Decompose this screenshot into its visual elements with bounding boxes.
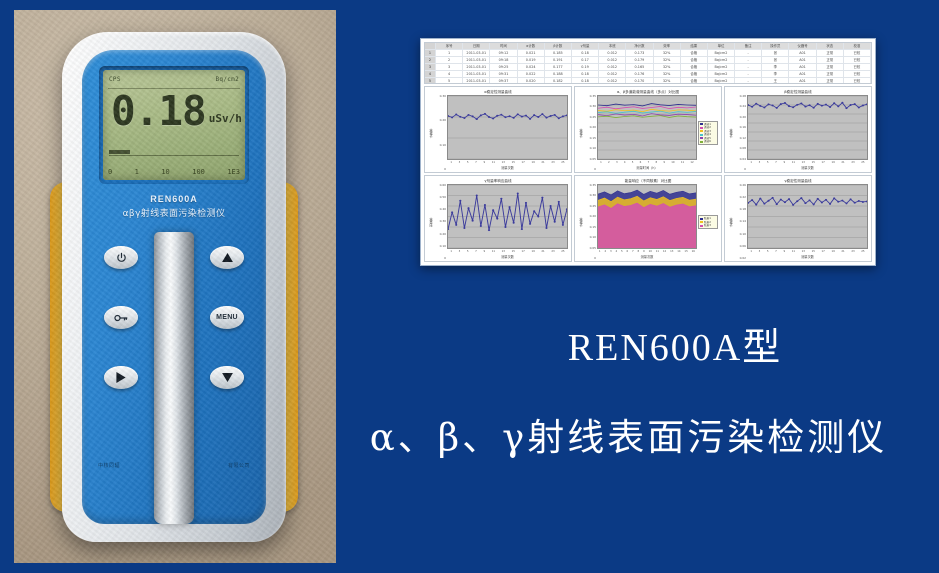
chart-legend-swatch — [700, 218, 703, 220]
chart-y-tick: 0.30 — [440, 220, 446, 223]
spreadsheet-cell[interactable]: 09:12 — [490, 50, 517, 56]
spreadsheet-column-header[interactable]: 单位 — [708, 43, 735, 49]
spreadsheet-cell[interactable]: 0.012 — [599, 78, 626, 84]
chart-y-axis-label: 计数率 — [578, 184, 584, 260]
spreadsheet-cell[interactable]: 2011-03-01 — [463, 50, 490, 56]
spreadsheet-cell[interactable]: 正常 — [817, 57, 844, 63]
spreadsheet-row-header[interactable]: 1 — [425, 50, 436, 56]
chart-y-tick: 0.12 — [740, 137, 746, 140]
chart-body: 计数率0.300.200.100135791113151719212325测量次… — [428, 95, 568, 171]
chart-y-tick: 0.20 — [440, 119, 446, 122]
down-button[interactable] — [210, 366, 244, 389]
spreadsheet-column-header[interactable]: 状态 — [817, 43, 844, 49]
maker-text-row: 中核同辐 有限公司 — [82, 462, 266, 469]
chart-y-axis-label: 计数率 — [728, 95, 734, 171]
device-shell: CPS Bq/cm2 0.18 uSv/h — [62, 32, 286, 542]
chart-y-axis-label: 计数率 — [428, 95, 434, 171]
maker-text-left: 中核同辐 — [98, 462, 120, 469]
spreadsheet-cell[interactable]: 0.179 — [626, 57, 653, 63]
lcd-value: 0.18 — [111, 92, 206, 131]
lcd-scale-tick: 10 — [161, 168, 169, 176]
up-button[interactable] — [210, 246, 244, 269]
spreadsheet-cell[interactable]: - — [735, 57, 762, 63]
spreadsheet-cell[interactable]: 已校 — [844, 50, 871, 56]
spreadsheet-cell[interactable]: 0.18 — [572, 78, 599, 84]
spreadsheet-cell[interactable]: 32% — [654, 64, 681, 70]
spreadsheet-column-header[interactable]: 本底 — [599, 43, 626, 49]
chart-plot-area — [447, 95, 568, 160]
chart-body: 计数率0.260.220.180.140.100.060.02135791113… — [728, 184, 868, 260]
spreadsheet-corner-cell — [425, 43, 436, 49]
spreadsheet-row-header[interactable]: 4 — [425, 71, 436, 77]
device-model-label: REN600A — [82, 194, 266, 204]
spreadsheet-cell[interactable]: 0.19 — [572, 64, 599, 70]
chart-x-axis-label: 测量时间（h） — [597, 166, 697, 171]
spreadsheet-cell[interactable]: 2011-03-01 — [463, 78, 490, 84]
chart-y-tick: 0.15 — [590, 137, 596, 140]
chart-y-tick: 0.20 — [590, 126, 596, 129]
spreadsheet-cell[interactable]: 0.185 — [545, 50, 572, 56]
chart-y-tick: 0.10 — [440, 245, 446, 248]
lcd-bezel: CPS Bq/cm2 0.18 uSv/h — [99, 66, 249, 184]
chart-x-axis-label: 测量次数 — [447, 255, 568, 260]
lock-button[interactable] — [104, 306, 138, 329]
chart-legend: 通道1通道2通道3通道4通道5通道6 — [698, 121, 718, 146]
spreadsheet-cell[interactable]: 已校 — [844, 78, 871, 84]
spreadsheet-cell[interactable]: 合格 — [681, 71, 708, 77]
lcd-reading: 0.18 uSv/h — [111, 92, 242, 131]
spreadsheet-cell[interactable]: 0.012 — [599, 50, 626, 56]
triangle-down-icon — [222, 373, 233, 382]
spreadsheet-cell[interactable]: Bq/cm2 — [708, 71, 735, 77]
chart-gamma-stability: γ稳定性测量曲线计数率0.260.220.180.140.100.060.021… — [724, 175, 872, 262]
spreadsheet-cell[interactable]: A01 — [789, 64, 816, 70]
chart-plot-wrap: 135791113151719212325测量次数 — [447, 184, 568, 260]
chart-y-tick: 0 — [444, 257, 446, 260]
software-screenshot: 序号日期时间α计数β计数γ剂量本底净计数效率结果单位备注操作员仪器号状态校准11… — [420, 38, 876, 266]
chart-y-tick: 0.15 — [590, 226, 596, 229]
triangle-right-icon — [116, 372, 126, 383]
spreadsheet-cell[interactable]: 0.020 — [518, 78, 545, 84]
chart-legend-swatch — [700, 123, 703, 125]
spreadsheet-cell[interactable]: 0.012 — [599, 71, 626, 77]
chart-y-tick: 0.16 — [740, 126, 746, 129]
spreadsheet-cell[interactable]: 0.012 — [599, 64, 626, 70]
spreadsheet-cell[interactable]: 4 — [436, 71, 463, 77]
spreadsheet-cell[interactable]: 李 — [762, 71, 789, 77]
spreadsheet-cell[interactable]: A01 — [789, 78, 816, 84]
device-printed-label: REN600A αβγ射线表面污染检测仪 — [82, 194, 266, 219]
lcd-scale-tick: 1 — [135, 168, 139, 176]
spreadsheet-row[interactable]: 442011-03-0109:310.0220.1880.180.0120.17… — [425, 71, 871, 78]
spreadsheet-cell[interactable]: 0.021 — [518, 50, 545, 56]
menu-button[interactable]: MENU — [210, 306, 244, 329]
chart-x-axis-label: 测量次数 — [747, 166, 868, 171]
chart-plot-area — [747, 95, 868, 160]
spreadsheet-cell[interactable]: 已校 — [844, 57, 871, 63]
spreadsheet-cell[interactable]: 0.012 — [599, 57, 626, 63]
spreadsheet-cell[interactable]: 09:25 — [490, 64, 517, 70]
chart-legend-swatch — [700, 137, 703, 139]
chart-plot-wrap: 135791113151719212325测量次数 — [747, 95, 868, 171]
chart-y-tick: 0.08 — [740, 147, 746, 150]
spreadsheet-cell[interactable]: 1 — [436, 50, 463, 56]
spreadsheet-cell[interactable]: Bq/cm2 — [708, 78, 735, 84]
chart-y-tick: 0 — [594, 257, 596, 260]
spreadsheet-cell[interactable]: 3 — [436, 64, 463, 70]
spreadsheet-cell[interactable]: 张 — [762, 57, 789, 63]
chart-body: 剂量率0.600.500.400.300.200.100135791113151… — [428, 184, 568, 260]
chart-gamma-response: γ剂量率响应曲线剂量率0.600.500.400.300.200.1001357… — [424, 175, 572, 262]
spreadsheet-cell[interactable]: 李 — [762, 64, 789, 70]
spreadsheet-cell[interactable]: - — [735, 50, 762, 56]
chart-y-tick: 0.05 — [590, 158, 596, 161]
spreadsheet-cell[interactable]: 2 — [436, 57, 463, 63]
spreadsheet-cell[interactable]: 0.022 — [518, 71, 545, 77]
product-poster: CPS Bq/cm2 0.18 uSv/h — [0, 0, 939, 573]
lcd-bargraph — [109, 151, 239, 156]
chart-y-tick: 0.10 — [590, 147, 596, 150]
lcd-status-left: CPS — [109, 76, 121, 83]
chart-y-tick: 0.05 — [590, 247, 596, 250]
lcd-scale-tick: 0 — [108, 168, 112, 176]
spreadsheet-cell[interactable]: 32% — [654, 78, 681, 84]
chart-y-axis-label: 计数率 — [578, 95, 584, 171]
chart-y-tick: 0.02 — [740, 257, 746, 260]
chart-y-tick: 0.10 — [590, 236, 596, 239]
chart-y-tick: 0.35 — [590, 184, 596, 187]
spreadsheet-cell[interactable]: 0.188 — [545, 71, 572, 77]
chart-x-axis-label: 测量次数 — [747, 255, 868, 260]
spreadsheet-cell[interactable]: 09:37 — [490, 78, 517, 84]
device-photo: CPS Bq/cm2 0.18 uSv/h — [14, 10, 336, 563]
spreadsheet-cell[interactable]: 0.176 — [626, 71, 653, 77]
spreadsheet-row-header[interactable]: 2 — [425, 57, 436, 63]
chart-grid: α稳定性测量曲线计数率0.300.200.1001357911131517192… — [424, 86, 872, 262]
spreadsheet-column-header[interactable]: 效率 — [654, 43, 681, 49]
chart-y-tick: 0 — [594, 168, 596, 171]
spreadsheet-cell[interactable]: 32% — [654, 50, 681, 56]
chart-y-ticks: 0.600.500.400.300.200.100 — [434, 184, 447, 260]
chart-plot-area — [447, 184, 568, 249]
chart-y-tick: 0.10 — [740, 233, 746, 236]
chart-y-tick: 0.10 — [440, 144, 446, 147]
handheld-meter: CPS Bq/cm2 0.18 uSv/h — [54, 32, 294, 542]
spreadsheet-column-header[interactable]: γ剂量 — [572, 43, 599, 49]
chart-y-tick: 0.30 — [440, 95, 446, 98]
chart-body: 计数率0.280.240.200.160.120.080.04013579111… — [728, 95, 868, 171]
spreadsheet-cell[interactable]: 合格 — [681, 50, 708, 56]
chart-y-tick: 0 — [444, 168, 446, 171]
chart-y-tick: 0.25 — [590, 116, 596, 119]
chart-legend-label: 通道6 — [704, 140, 711, 143]
lcd-status-right: Bq/cm2 — [216, 76, 239, 83]
chart-y-tick: 0.40 — [440, 208, 446, 211]
poster-description-title: α、β、γ射线表面污染检测仪 — [318, 412, 939, 464]
spreadsheet-cell[interactable]: 正常 — [817, 64, 844, 70]
spreadsheet-cell[interactable]: A01 — [789, 50, 816, 56]
chart-y-tick: 0.04 — [740, 158, 746, 161]
spreadsheet-cell[interactable]: 0.17 — [572, 57, 599, 63]
lcd-bargraph-fill — [109, 150, 130, 154]
spreadsheet-cell[interactable]: 32% — [654, 57, 681, 63]
chart-plot-wrap: 123456789101112测量时间（h） — [597, 95, 697, 171]
chart-y-ticks: 0.300.200.100 — [434, 95, 447, 171]
chart-y-ticks: 0.280.240.200.160.120.080.040 — [734, 95, 747, 171]
chart-y-tick: 0.50 — [440, 196, 446, 199]
spreadsheet-cell[interactable]: 0.18 — [572, 71, 599, 77]
device-faceplate: CPS Bq/cm2 0.18 uSv/h — [82, 50, 266, 524]
spreadsheet-cell[interactable]: 0.177 — [545, 64, 572, 70]
spreadsheet-cell[interactable]: A01 — [789, 57, 816, 63]
chart-plot-wrap: 135791113151719212325测量次数 — [447, 95, 568, 171]
spreadsheet-cell[interactable]: 0.191 — [545, 57, 572, 63]
chart-y-tick: 0.26 — [740, 184, 746, 187]
chart-legend-swatch — [700, 225, 703, 227]
chart-y-tick: 0.24 — [740, 105, 746, 108]
chart-legend-swatch — [700, 134, 703, 136]
chart-legend-swatch — [700, 141, 703, 143]
spreadsheet-cell[interactable]: 32% — [654, 71, 681, 77]
spreadsheet-cell[interactable]: 合格 — [681, 64, 708, 70]
spreadsheet-row[interactable]: 112011-03-0109:120.0210.1850.180.0120.17… — [425, 50, 871, 57]
chart-legend-label: 核素3 — [704, 224, 711, 227]
spreadsheet-cell[interactable]: 正常 — [817, 71, 844, 77]
spreadsheet-row-header[interactable]: 3 — [425, 64, 436, 70]
spreadsheet-cell[interactable]: 正常 — [817, 78, 844, 84]
spreadsheet-column-header[interactable]: 时间 — [490, 43, 517, 49]
chart-y-tick: 0.30 — [590, 194, 596, 197]
lcd-screen: CPS Bq/cm2 0.18 uSv/h — [103, 70, 245, 180]
spreadsheet-cell[interactable]: 2011-03-01 — [463, 64, 490, 70]
chart-plot-wrap: 135791113151719212325测量次数 — [747, 184, 868, 260]
chart-y-ticks: 0.260.220.180.140.100.060.02 — [734, 184, 747, 260]
spreadsheet-column-header[interactable]: 备注 — [735, 43, 762, 49]
keypad: MENU — [82, 246, 266, 436]
play-button[interactable] — [104, 366, 138, 389]
lcd-unit: uSv/h — [209, 112, 242, 131]
chart-legend-item[interactable]: 通道6 — [700, 140, 716, 143]
spreadsheet-row[interactable]: 332011-03-0109:250.0240.1770.190.0120.16… — [425, 64, 871, 71]
chart-y-tick: 0.06 — [740, 245, 746, 248]
power-button[interactable] — [104, 246, 138, 269]
spreadsheet-column-header[interactable]: β计数 — [545, 43, 572, 49]
chart-y-tick: 0.25 — [590, 205, 596, 208]
lcd-status-bar: CPS Bq/cm2 — [109, 73, 239, 86]
chart-plot-area — [747, 184, 868, 249]
spreadsheet-row[interactable]: 222011-03-0109:180.0190.1910.170.0120.17… — [425, 57, 871, 64]
chart-y-tick: 0.60 — [440, 184, 446, 187]
spreadsheet-cell[interactable]: 0.019 — [518, 57, 545, 63]
lcd-scale: 0 1 10 100 1E3 — [108, 168, 240, 176]
chart-legend-item[interactable]: 核素3 — [700, 224, 716, 227]
spreadsheet-cell[interactable]: 2011-03-01 — [463, 71, 490, 77]
spreadsheet-cell[interactable]: 0.173 — [626, 50, 653, 56]
spreadsheet-cell[interactable]: Bq/cm2 — [708, 57, 735, 63]
spreadsheet-cell[interactable]: 09:18 — [490, 57, 517, 63]
chart-legend-swatch — [700, 221, 703, 223]
spreadsheet-cell[interactable]: 王 — [762, 78, 789, 84]
spreadsheet-row[interactable]: 552011-03-0109:370.0200.1820.180.0120.17… — [425, 78, 871, 84]
chart-y-tick: 0.35 — [590, 95, 596, 98]
chart-beta-stability: β稳定性测量曲线计数率0.280.240.200.160.120.080.040… — [724, 86, 872, 173]
spreadsheet-column-header[interactable]: 净计数 — [626, 43, 653, 49]
lcd-scale-tick: 1E3 — [227, 168, 240, 176]
device-description-label: αβγ射线表面污染检测仪 — [82, 206, 266, 219]
chart-y-ticks: 0.350.300.250.200.150.100.050 — [584, 95, 597, 171]
chart-plot-wrap: 12345678910111213141516测量次数 — [597, 184, 697, 260]
chart-y-axis-label: 计数率 — [728, 184, 734, 260]
spreadsheet-cell[interactable]: 5 — [436, 78, 463, 84]
spreadsheet-column-header[interactable]: 操作员 — [762, 43, 789, 49]
spreadsheet-cell[interactable]: 已校 — [844, 71, 871, 77]
chart-alpha-stability: α稳定性测量曲线计数率0.300.200.1001357911131517192… — [424, 86, 572, 173]
triangle-up-icon — [222, 253, 233, 262]
chart-multichannel-energy: α、β多道能谱测量曲线（多点）对比图计数率0.350.300.250.200.1… — [574, 86, 722, 173]
spreadsheet-row-header[interactable]: 5 — [425, 78, 436, 84]
spreadsheet-cell[interactable]: 正常 — [817, 50, 844, 56]
spreadsheet-cell[interactable]: 0.165 — [626, 64, 653, 70]
spreadsheet-column-header[interactable]: 序号 — [436, 43, 463, 49]
spreadsheet-cell[interactable]: 0.170 — [626, 78, 653, 84]
spreadsheet-cell[interactable]: 合格 — [681, 57, 708, 63]
spreadsheet-cell[interactable]: Bq/cm2 — [708, 64, 735, 70]
chart-y-tick: 0.20 — [590, 215, 596, 218]
spreadsheet-cell[interactable]: 09:31 — [490, 71, 517, 77]
spreadsheet-cell[interactable]: - — [735, 64, 762, 70]
menu-button-label: MENU — [216, 314, 238, 321]
chart-plot-area — [597, 95, 697, 160]
chart-y-tick: 0.20 — [740, 116, 746, 119]
chart-y-tick: 0.28 — [740, 95, 746, 98]
chart-body: 计数率0.350.300.250.200.150.100.05012345678… — [578, 95, 718, 171]
chart-y-ticks: 0.350.300.250.200.150.100.050 — [584, 184, 597, 260]
chart-legend-swatch — [700, 127, 703, 129]
spreadsheet-cell[interactable]: 0.18 — [572, 50, 599, 56]
chart-y-tick: 0.20 — [440, 233, 446, 236]
chart-y-tick: 0.14 — [740, 220, 746, 223]
spreadsheet-header-row: 序号日期时间α计数β计数γ剂量本底净计数效率结果单位备注操作员仪器号状态校准 — [425, 43, 871, 50]
chart-y-tick: 0.22 — [740, 196, 746, 199]
data-spreadsheet: 序号日期时间α计数β计数γ剂量本底净计数效率结果单位备注操作员仪器号状态校准11… — [424, 42, 872, 84]
chart-plot-area — [597, 184, 697, 249]
poster-model-title: REN600A型 — [420, 325, 930, 371]
chart-energy-band: 能量响应（不同核素）对比图计数率0.350.300.250.200.150.10… — [574, 175, 722, 262]
chart-x-axis-label: 测量次数 — [597, 255, 697, 260]
spreadsheet-cell[interactable]: 张 — [762, 50, 789, 56]
spreadsheet-column-header[interactable]: 校准 — [844, 43, 871, 49]
chart-legend: 核素1核素2核素3 — [698, 215, 718, 229]
spreadsheet-column-header[interactable]: α计数 — [518, 43, 545, 49]
spreadsheet-cell[interactable]: 2011-03-01 — [463, 57, 490, 63]
spreadsheet-cell[interactable]: A01 — [789, 71, 816, 77]
chart-y-tick: 0.18 — [740, 208, 746, 211]
maker-text-right: 有限公司 — [228, 462, 250, 469]
spreadsheet-cell[interactable]: - — [735, 71, 762, 77]
spreadsheet-column-header[interactable]: 仪器号 — [789, 43, 816, 49]
spreadsheet-column-header[interactable]: 结果 — [681, 43, 708, 49]
spreadsheet-column-header[interactable]: 日期 — [463, 43, 490, 49]
spreadsheet-cell[interactable]: - — [735, 78, 762, 84]
spreadsheet-cell[interactable]: 0.182 — [545, 78, 572, 84]
chart-y-tick: 0.30 — [590, 105, 596, 108]
key-icon — [114, 313, 128, 323]
lcd-scale-tick: 100 — [192, 168, 205, 176]
chart-y-tick: 0 — [744, 168, 746, 171]
chart-legend-swatch — [700, 130, 703, 132]
chart-y-axis-label: 剂量率 — [428, 184, 434, 260]
chart-body: 计数率0.350.300.250.200.150.100.05012345678… — [578, 184, 718, 260]
power-icon — [116, 252, 127, 263]
spreadsheet-cell[interactable]: 0.024 — [518, 64, 545, 70]
spreadsheet-cell[interactable]: Bq/cm2 — [708, 50, 735, 56]
chart-x-axis-label: 测量次数 — [447, 166, 568, 171]
spreadsheet-cell[interactable]: 合格 — [681, 78, 708, 84]
spreadsheet-cell[interactable]: 已校 — [844, 64, 871, 70]
